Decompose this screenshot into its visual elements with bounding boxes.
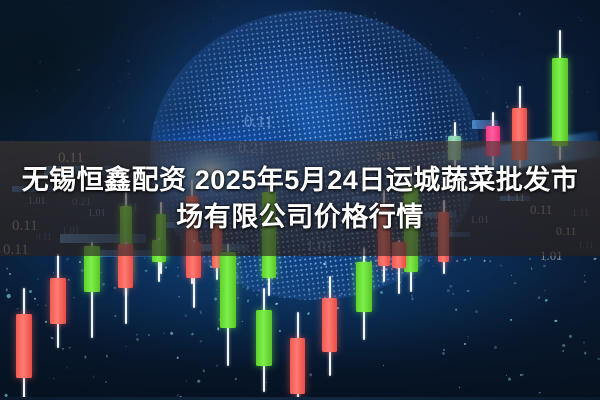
- candlestick: [50, 278, 66, 324]
- candlestick: [356, 262, 372, 312]
- candlestick: [552, 58, 568, 146]
- candlestick-body: [290, 338, 305, 394]
- candlestick-body: [16, 314, 32, 378]
- candlestick-body: [256, 310, 272, 366]
- candlestick-body: [356, 262, 372, 312]
- candlestick-body: [220, 252, 236, 328]
- candlestick: [256, 310, 272, 366]
- candlestick: [16, 314, 32, 378]
- candlestick-body: [552, 58, 568, 146]
- title-block: 无锡恒鑫配资 2025年5月24日运城蔬菜批发市 场有限公司价格行情: [0, 141, 600, 256]
- title-line-2: 场有限公司价格行情: [176, 200, 424, 235]
- title-line-1: 无锡恒鑫配资 2025年5月24日运城蔬菜批发市: [22, 163, 579, 198]
- candlestick: [290, 338, 305, 394]
- candlestick-body: [50, 278, 66, 324]
- candlestick-body: [322, 298, 337, 352]
- candlestick: [220, 252, 236, 328]
- banner-image: 0.111.010.110.111.010.211.010.110.210.11…: [0, 0, 600, 400]
- candlestick: [322, 298, 337, 352]
